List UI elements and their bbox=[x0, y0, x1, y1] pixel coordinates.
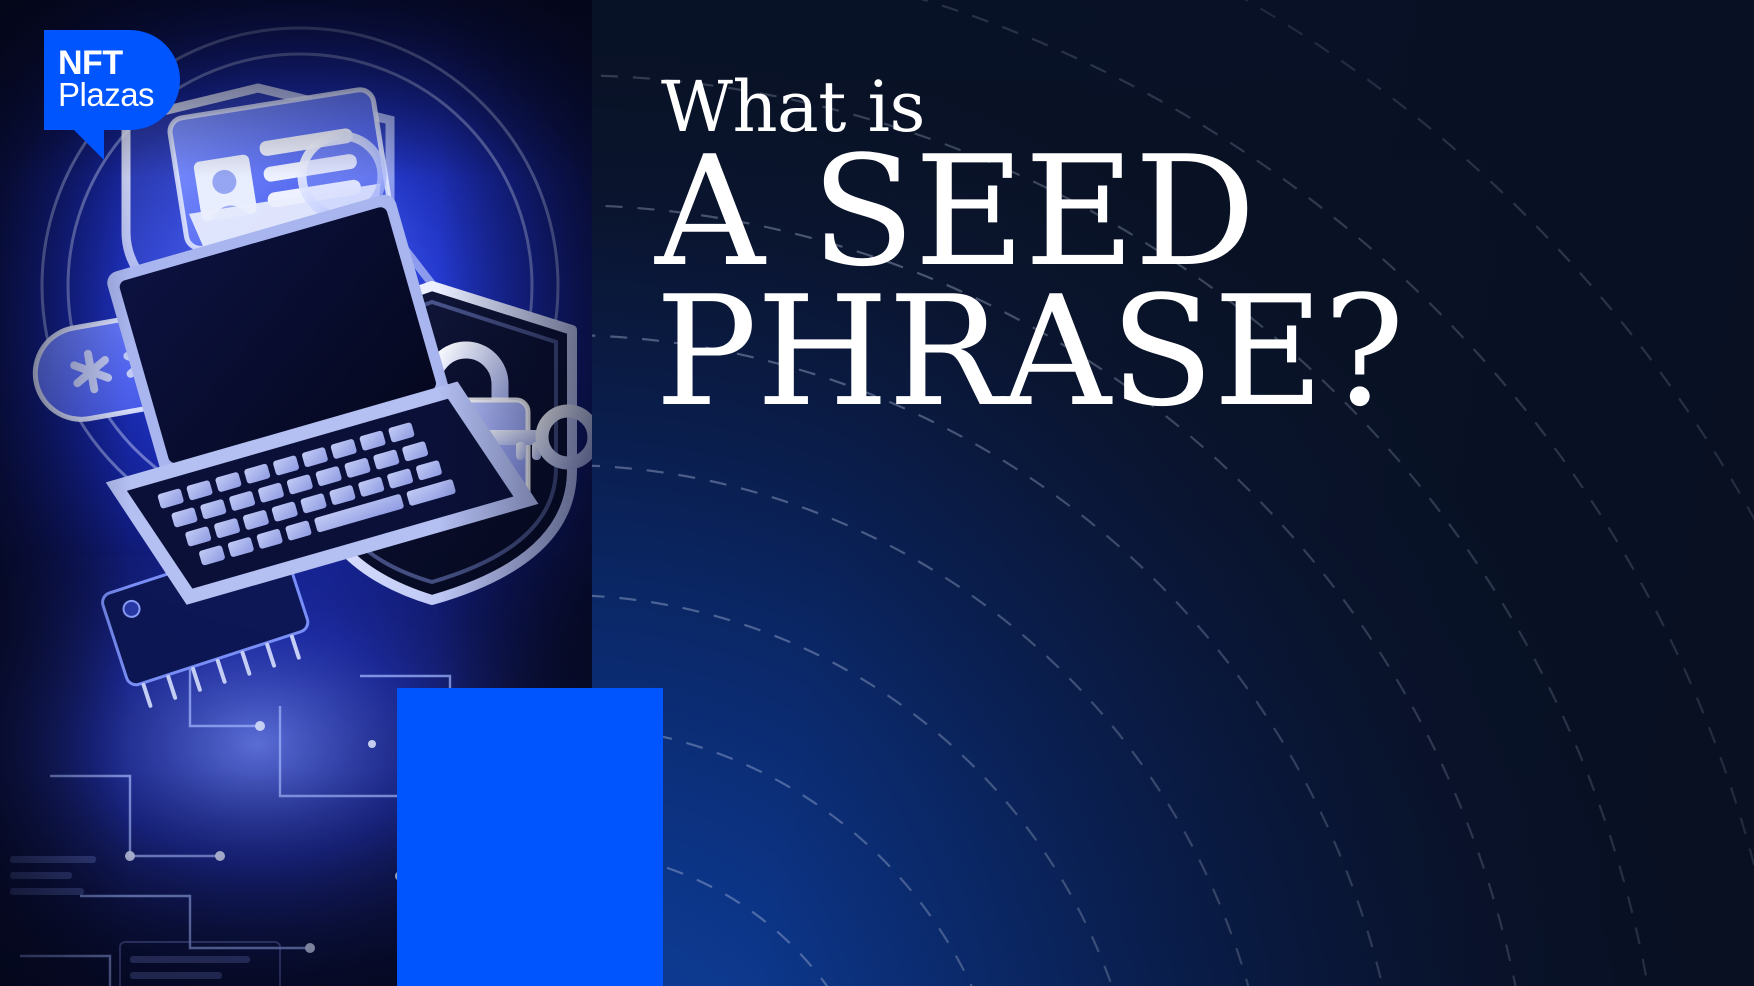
title-main: A SEED PHRASE? bbox=[655, 145, 1675, 419]
nft-plazas-logo[interactable]: NFT Plazas bbox=[44, 30, 180, 160]
logo-wordmark: NFT Plazas bbox=[58, 46, 154, 111]
banner-canvas: NFT Plazas What is A SEED PHRASE? bbox=[0, 0, 1754, 986]
title-line-2: PHRASE? bbox=[655, 285, 1675, 419]
accent-square bbox=[397, 688, 663, 986]
logo-line-plazas: Plazas bbox=[58, 78, 154, 111]
title-block: What is A SEED PHRASE? bbox=[655, 74, 1675, 419]
logo-line-nft: NFT bbox=[58, 46, 154, 80]
